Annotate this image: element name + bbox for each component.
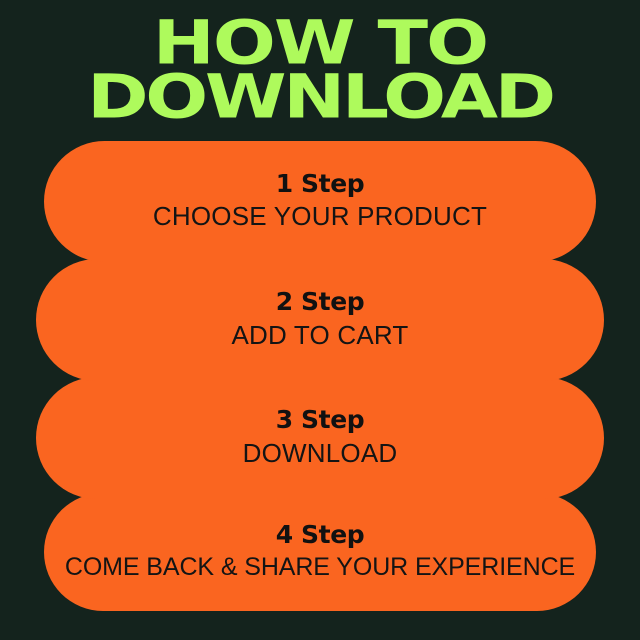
step-card-1[interactable]: 1 Step CHOOSE YOUR PRODUCT — [44, 141, 596, 262]
page-title: HOW TO DOWNLOAD — [0, 16, 640, 123]
step-3-description: DOWNLOAD — [243, 439, 398, 469]
step-1-number-label: 1 Step — [276, 171, 365, 197]
step-card-3[interactable]: 3 Step DOWNLOAD — [36, 377, 604, 499]
step-1-description: CHOOSE YOUR PRODUCT — [153, 202, 487, 232]
step-card-4[interactable]: 4 Step COME BACK & SHARE YOUR EXPERIENCE — [44, 493, 596, 611]
title-line-download: DOWNLOAD — [0, 70, 640, 126]
steps-stack: 1 Step CHOOSE YOUR PRODUCT 2 Step ADD TO… — [0, 141, 640, 611]
step-card-2-content: 2 Step ADD TO CART — [36, 289, 604, 350]
step-card-3-content: 3 Step DOWNLOAD — [36, 407, 604, 468]
step-3-number-label: 3 Step — [276, 407, 365, 433]
step-card-2[interactable]: 2 Step ADD TO CART — [36, 259, 604, 381]
step-4-number-label: 4 Step — [276, 522, 365, 548]
step-2-number-label: 2 Step — [276, 289, 365, 315]
poster-canvas: HOW TO DOWNLOAD 1 Step CHOOSE YOUR PRODU… — [0, 0, 640, 640]
step-2-description: ADD TO CART — [231, 321, 408, 351]
step-4-description: COME BACK & SHARE YOUR EXPERIENCE — [65, 553, 575, 582]
step-card-4-content: 4 Step COME BACK & SHARE YOUR EXPERIENCE — [44, 522, 596, 582]
step-card-1-content: 1 Step CHOOSE YOUR PRODUCT — [44, 171, 596, 232]
